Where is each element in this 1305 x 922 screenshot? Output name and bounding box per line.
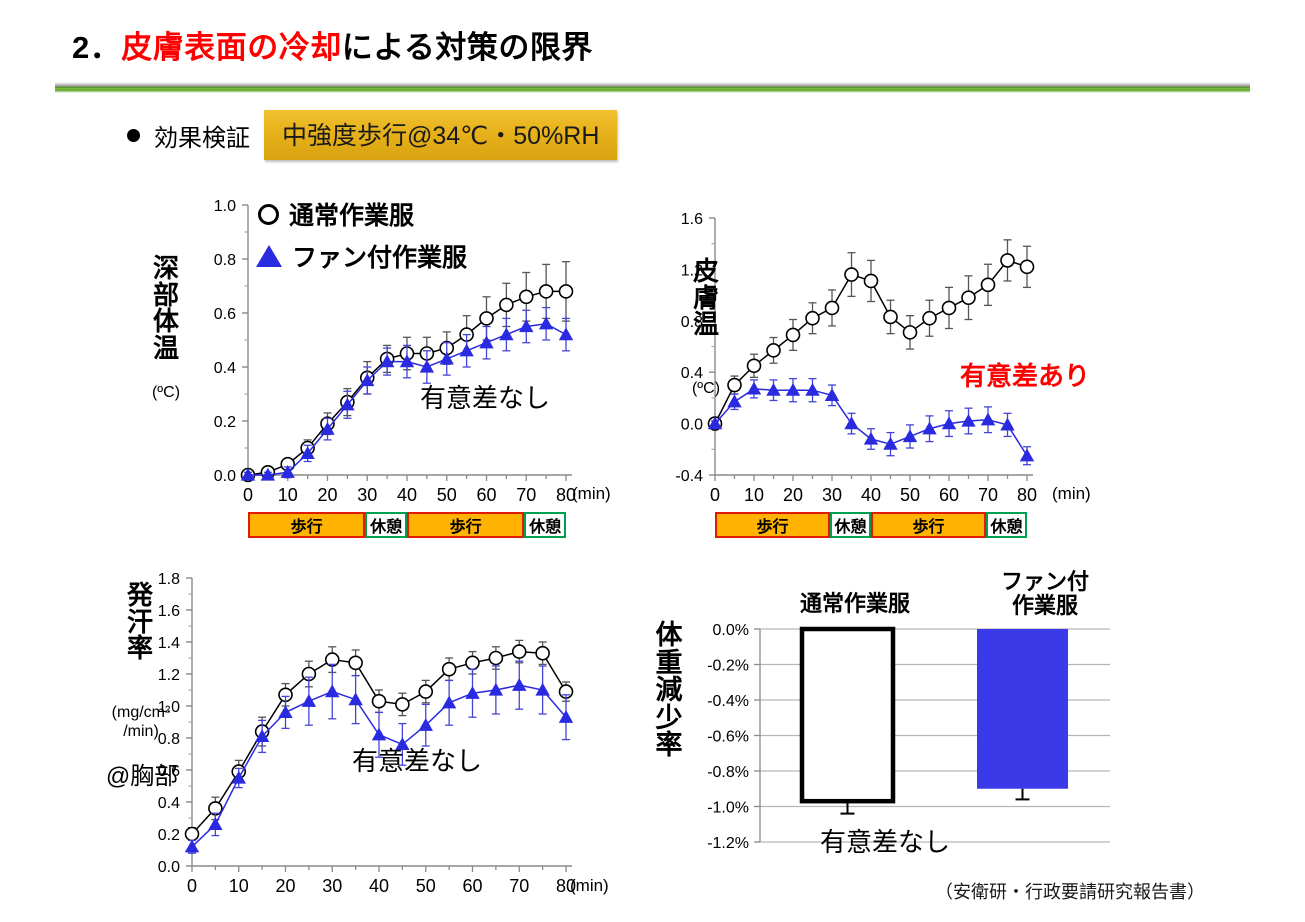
y-tick-label: 0.0: [158, 859, 180, 876]
phase-segment-rest: 休憩: [986, 512, 1027, 538]
x-tick-label: 70: [516, 485, 536, 505]
axis-label-char: 発: [122, 582, 158, 609]
phase-segment-rest: 休憩: [524, 512, 566, 538]
legend-normal-label: 通常作業服: [289, 196, 414, 232]
axis-label-char: 深: [148, 255, 184, 282]
chart-sweat-canvas: 0.00.20.40.60.81.01.21.41.61.80102030405…: [0, 560, 660, 922]
y-tick-label: 0.8: [214, 252, 236, 269]
y-tick-label: -1.0%: [707, 800, 749, 817]
phase-segment-walk: 歩行: [715, 512, 830, 538]
chart-sweat-xunit: (min): [570, 876, 609, 896]
chart-skin-canvas: -0.40.00.40.81.21.601020304050607080: [640, 0, 1305, 560]
chart-skin-annotation: 有意差あり: [960, 356, 1090, 393]
text-line: 作業服: [955, 594, 1135, 618]
x-tick-label: 20: [783, 485, 803, 505]
axis-label-char: 減: [653, 677, 685, 705]
legend-normal-core: 通常作業服: [258, 196, 414, 232]
series-normal: [709, 240, 1034, 430]
x-tick-label: 50: [416, 876, 436, 896]
phase-segment-walk: 歩行: [407, 512, 524, 538]
y-tick-label: -0.4: [675, 468, 703, 485]
chart-core-temp: 深部体温 (ºC) 0.00.20.40.60.81.0010203040506…: [0, 0, 640, 560]
axis-label-char: 皮: [688, 258, 724, 285]
chart-sweat-yunit: (mg/cm²/min): [100, 703, 182, 741]
x-tick-label: 70: [509, 876, 529, 896]
x-tick-label: 40: [861, 485, 881, 505]
x-tick-label: 30: [357, 485, 377, 505]
axis-label-char: 少: [653, 705, 685, 733]
x-tick-label: 50: [437, 485, 457, 505]
x-tick-label: 0: [187, 876, 197, 896]
x-tick-label: 60: [462, 876, 482, 896]
x-tick-label: 40: [369, 876, 389, 896]
chart-skin-temp: 皮膚温 (ºC) -0.40.00.40.81.21.6010203040506…: [640, 0, 1305, 560]
y-tick-label: 0.0%: [713, 622, 749, 639]
chart-skin-xunit: (min): [1052, 484, 1091, 504]
y-tick-label: -0.2%: [707, 658, 749, 675]
x-tick-label: 60: [939, 485, 959, 505]
phase-bar-core: 歩行休憩歩行休憩: [248, 512, 566, 538]
x-tick-label: 20: [275, 876, 295, 896]
chart-mass-ylabel: 体重減少率: [653, 622, 685, 760]
phase-segment-walk: 歩行: [871, 512, 986, 538]
x-tick-label: 70: [978, 485, 998, 505]
phase-segment-rest: 休憩: [365, 512, 407, 538]
y-tick-label: 1.6: [158, 603, 180, 620]
x-tick-label: 10: [278, 485, 298, 505]
y-tick-label: 0.0: [214, 468, 236, 485]
bar-category-fan: ファン付作業服: [955, 570, 1135, 618]
y-tick-label: 0.2: [158, 827, 180, 844]
x-tick-label: 0: [710, 485, 720, 505]
y-tick-label: -0.6%: [707, 729, 749, 746]
chart-skin-ylabel: 皮膚温: [688, 258, 724, 338]
x-tick-label: 40: [397, 485, 417, 505]
chart-core-canvas: 0.00.20.40.60.81.001020304050607080: [0, 0, 640, 560]
y-tick-label: -0.4%: [707, 693, 749, 710]
y-tick-label: 1.8: [158, 571, 180, 588]
y-tick-label: 1.0: [214, 198, 236, 215]
chart-core-annotation: 有意差なし: [420, 378, 550, 415]
chart-sweat-ysite: @胸部: [96, 756, 188, 791]
x-tick-label: 80: [1017, 485, 1037, 505]
y-tick-label: 0.2: [214, 414, 236, 431]
text-line: (mg/cm²: [100, 703, 182, 722]
text-line: /min): [100, 722, 182, 741]
x-tick-label: 0: [243, 485, 253, 505]
text-line: ファン付: [955, 570, 1135, 594]
axis-label-char: 率: [653, 732, 685, 760]
axis-label-char: 体: [148, 308, 184, 335]
bar-1: [977, 629, 1068, 799]
phase-segment-walk: 歩行: [248, 512, 365, 538]
chart-sweat-ylabel: 発汗率: [122, 582, 158, 662]
axis-label-char: 率: [122, 635, 158, 662]
source-credit: （安衛研・行政要請研究報告書）: [935, 878, 1205, 904]
axis-label-char: 温: [148, 335, 184, 362]
slide-root: 2．皮膚表面の冷却による対策の限界 効果検証 中強度歩行@34℃・50%RH 深…: [0, 0, 1305, 922]
chart-core-ylabel: 深部体温: [148, 255, 184, 361]
y-tick-label: 0.6: [214, 306, 236, 323]
y-tick-label: -1.2%: [707, 835, 749, 852]
axis-label-char: 汗: [122, 609, 158, 636]
y-tick-label: 0.4: [158, 795, 180, 812]
chart-core-yunit: (ºC): [140, 384, 192, 402]
bar-category-normal: 通常作業服: [765, 592, 945, 616]
legend-fan-core: ファン付作業服: [256, 238, 467, 274]
blue-triangle-icon: [256, 245, 282, 267]
x-tick-label: 30: [322, 876, 342, 896]
chart-skin-yunit: (ºC): [680, 380, 732, 398]
y-tick-label: 1.6: [681, 211, 703, 228]
y-tick-label: 0.0: [681, 417, 703, 434]
y-tick-label: 1.2: [158, 667, 180, 684]
x-tick-label: 60: [476, 485, 496, 505]
x-tick-label: 30: [822, 485, 842, 505]
chart-sweat-annotation: 有意差なし: [352, 741, 482, 778]
y-tick-label: -0.8%: [707, 764, 749, 781]
open-circle-icon: [258, 204, 279, 225]
chart-core-xunit: (min): [572, 484, 611, 504]
axis-label-char: 部: [148, 282, 184, 309]
axis-label-char: 重: [653, 650, 685, 678]
chart-sweat-rate: 発汗率 (mg/cm²/min) @胸部 0.00.20.40.60.81.01…: [0, 560, 660, 922]
x-tick-label: 10: [744, 485, 764, 505]
x-tick-label: 50: [900, 485, 920, 505]
x-tick-label: 20: [317, 485, 337, 505]
phase-bar-skin: 歩行休憩歩行休憩: [715, 512, 1027, 538]
axis-label-char: 体: [653, 622, 685, 650]
y-tick-label: 1.4: [158, 635, 180, 652]
axis-label-char: 温: [688, 311, 724, 338]
y-tick-label: 0.4: [214, 360, 236, 377]
legend-fan-label: ファン付作業服: [292, 238, 467, 274]
chart-mass-annotation: 有意差なし: [820, 822, 950, 859]
chart-body-mass-loss: 体重減少率 通常作業服 ファン付作業服 0.0%-0.2%-0.4%-0.6%-…: [640, 560, 1305, 922]
phase-segment-rest: 休憩: [830, 512, 871, 538]
axis-label-char: 膚: [688, 285, 724, 312]
bar-0: [802, 629, 893, 814]
x-tick-label: 10: [229, 876, 249, 896]
